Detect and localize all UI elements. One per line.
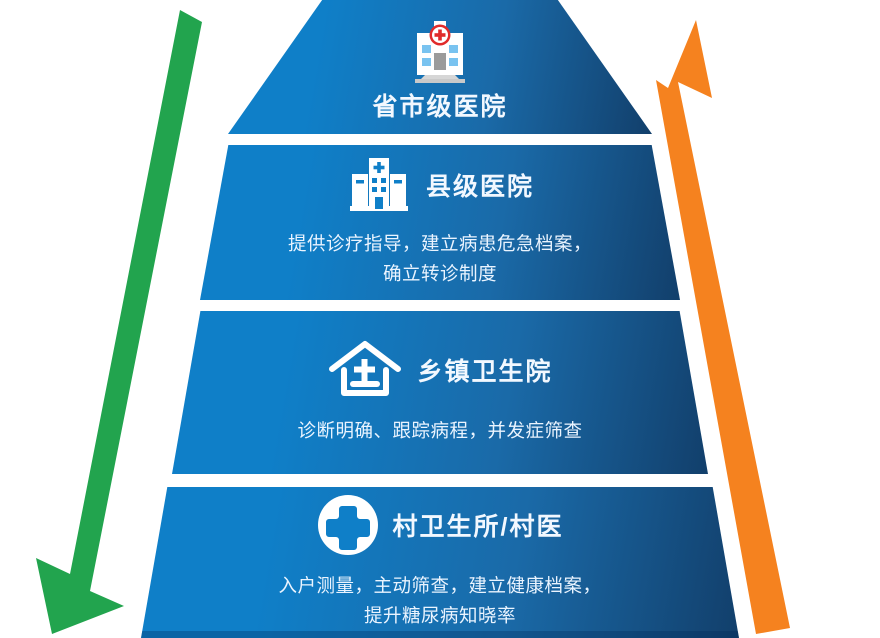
tier-provincial-hospital[interactable]: 省市级医院 [228, 0, 652, 134]
house-cross-icon [327, 339, 403, 406]
circle-cross-icon [317, 494, 379, 561]
tier-3-title: 乡镇卫生院 [417, 357, 552, 388]
hospital-building-icon [409, 19, 471, 90]
tier-township-health-center[interactable]: 乡镇卫生院 诊断明确、跟踪病程，并发症筛查 [172, 311, 708, 474]
tiered-healthcare-pyramid-diagram: 病情缓和，稳定后转诊 危急重症，疑难杂症转诊 [0, 0, 880, 638]
tier-4-description: 入户测量，主动筛查，建立健康档案， 提升糖尿病知晓率 [278, 571, 601, 631]
tier-village-clinic[interactable]: 村卫生所/村医 入户测量，主动筛查，建立健康档案， 提升糖尿病知晓率 [141, 487, 739, 638]
tier-2-description: 提供诊疗指导，建立病患危急档案， 确立转诊制度 [288, 229, 592, 289]
tier-1-title: 省市级医院 [372, 92, 507, 123]
tier-2-title: 县级医院 [426, 172, 534, 203]
hospital-icon [346, 156, 412, 219]
tier-3-description: 诊断明确、跟踪病程，并发症筛查 [297, 416, 582, 446]
tier-county-hospital[interactable]: 县级医院 提供诊疗指导，建立病患危急档案， 确立转诊制度 [200, 145, 680, 300]
tier-4-title: 村卫生所/村医 [393, 512, 564, 543]
